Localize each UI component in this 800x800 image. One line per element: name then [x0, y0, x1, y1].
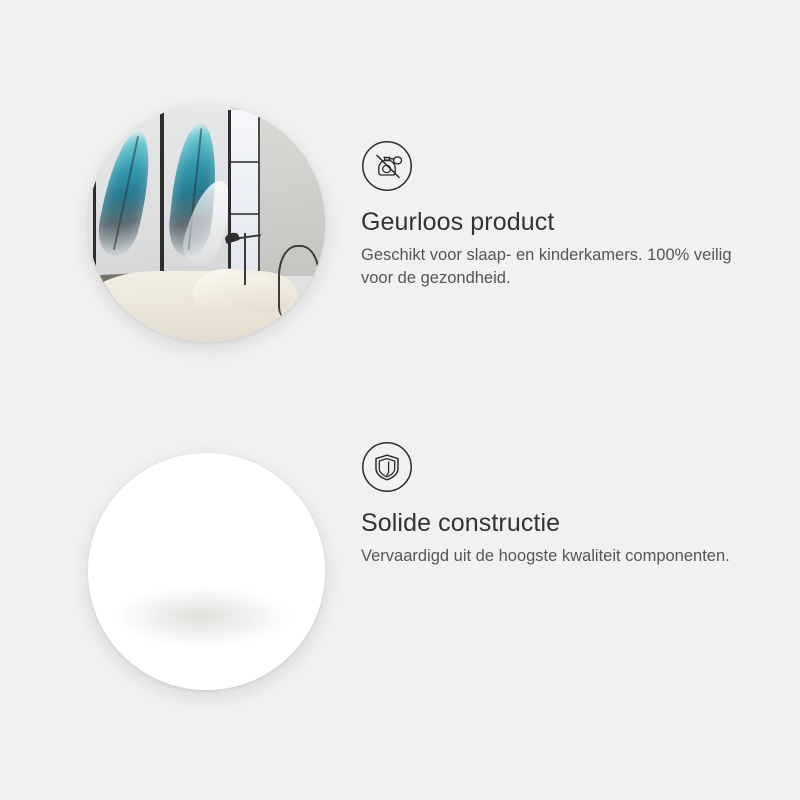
feature-text-block: Geurloos product Geschikt voor slaap- en… [361, 208, 761, 291]
feature-text-block: Solide constructie Vervaardigd uit de ho… [361, 509, 761, 568]
feature-description: Vervaardigd uit de hoogste kwaliteit com… [361, 545, 751, 568]
no-fragrance-icon [361, 140, 413, 192]
art-panel-center [161, 110, 231, 276]
feature-highlights-page: Geurloos product Geschikt voor slaap- en… [0, 0, 800, 800]
feature-title: Geurloos product [361, 208, 761, 237]
chair [278, 245, 320, 318]
shield-icon [361, 441, 413, 493]
feature-title: Solide constructie [361, 509, 761, 538]
art-panel-left [93, 110, 163, 276]
bedroom-feather-art-photo [88, 105, 325, 342]
feather-graphic [93, 127, 158, 259]
feature-description: Geschikt voor slaap- en kinderkamers. 10… [361, 244, 751, 291]
feature-block-solide-constructie: Solide constructie Vervaardigd uit de ho… [0, 428, 800, 728]
wood-drop-shadow [112, 586, 292, 648]
feature-block-geurloos-product: Geurloos product Geschikt voor slaap- en… [0, 80, 800, 380]
lamp-stand [244, 233, 246, 285]
wooden-blocks-photo [88, 453, 325, 690]
wood-scene [88, 453, 325, 690]
bedroom-scene [88, 105, 325, 342]
